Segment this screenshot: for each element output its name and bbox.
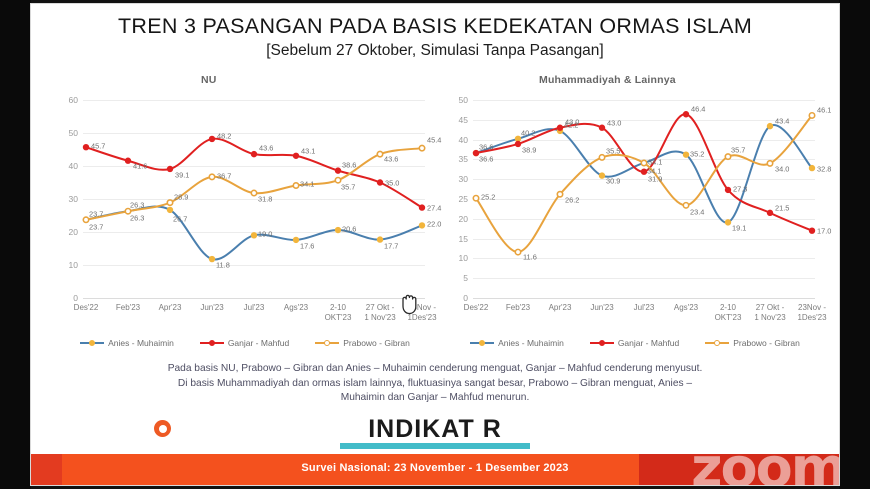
data-label: 19.1 [732, 224, 746, 233]
legend-swatch-icon [470, 339, 494, 347]
data-point [767, 123, 772, 128]
series-line-1 [86, 139, 422, 208]
data-label: 43.6 [259, 144, 273, 153]
y-axis-tick: 30 [69, 194, 78, 204]
legend-swatch-icon [200, 339, 224, 347]
banner-left-accent [31, 454, 62, 485]
y-axis-tick: 50 [459, 95, 468, 105]
presentation-slide: TREN 3 PASANGAN PADA BASIS KEDEKATAN ORM… [31, 4, 839, 485]
x-axis-tick: 27 Okt -1 Nov'23 [364, 303, 395, 322]
footnote-line: Muhaimin dan Ganjar – Mahfud menurun. [91, 391, 779, 406]
data-label: 46.4 [691, 105, 705, 114]
y-axis-tick: 20 [69, 227, 78, 237]
data-point [725, 154, 730, 159]
y-axis-tick: 15 [459, 234, 468, 244]
data-label: 17.6 [300, 241, 314, 250]
data-label: 17.7 [384, 241, 398, 250]
logo-dot-icon [154, 420, 171, 437]
legend-item-nu-0[interactable]: Anies - Muhaimin [80, 338, 174, 348]
chart-muhammadiyah-plot: 05101520253035404550Des'22Feb'23Apr'23Ju… [473, 100, 815, 298]
x-axis-tick: Ags'23 [674, 303, 698, 313]
data-label: 48.2 [217, 131, 231, 140]
data-label: 26.3 [130, 214, 144, 223]
data-label: 35.0 [385, 178, 399, 187]
data-point [419, 145, 424, 150]
x-axis-tick: Des'22 [464, 303, 489, 313]
data-label: 38.6 [342, 160, 356, 169]
data-point [809, 228, 814, 233]
chart-nu-legend: Anies - MuhaiminGanjar - MahfudPrabowo -… [49, 334, 441, 352]
data-point [599, 125, 604, 130]
data-label: 41.6 [133, 161, 147, 170]
x-axis-tick: Apr'23 [159, 303, 182, 313]
legend-swatch-icon [705, 339, 729, 347]
data-label: 35.7 [731, 145, 745, 154]
data-point [641, 160, 646, 165]
chart-nu: 0102030405060Des'22Feb'23Apr'23Jun'23Jul… [49, 96, 441, 324]
legend-swatch-icon [315, 339, 339, 347]
legend-item-muh-2[interactable]: Prabowo - Gibran [705, 338, 800, 348]
data-label: 32.8 [817, 165, 831, 174]
data-point [599, 173, 604, 178]
data-point [419, 223, 424, 228]
data-label: 46.1 [817, 106, 831, 115]
data-label: 26.7 [173, 214, 187, 223]
y-axis-tick: 0 [73, 293, 78, 303]
data-point [683, 203, 688, 208]
legend-item-nu-2[interactable]: Prabowo - Gibran [315, 338, 410, 348]
data-point [809, 113, 814, 118]
data-label: 36.7 [217, 171, 231, 180]
data-point [209, 136, 214, 141]
data-label: 11.8 [216, 261, 230, 270]
y-axis-tick: 35 [459, 154, 468, 164]
x-axis [83, 298, 425, 299]
data-label: 23.7 [89, 209, 103, 218]
x-axis-tick: Feb'23 [506, 303, 530, 313]
data-label: 30.9 [606, 176, 620, 185]
data-label: 45.7 [91, 142, 105, 151]
data-label: 23.7 [89, 222, 103, 231]
chart-series-layer [83, 100, 425, 298]
indikator-logo: INDIKAT R [31, 416, 839, 449]
data-point [335, 177, 340, 182]
legend-label: Anies - Muhaimin [108, 338, 174, 348]
left-letterbox [0, 0, 31, 489]
y-axis-tick: 5 [463, 273, 468, 283]
x-axis-tick: 27 Okt -1 Nov'23 [754, 303, 785, 322]
data-label: 34.1 [300, 180, 314, 189]
y-axis-tick: 30 [459, 174, 468, 184]
data-label: 43.1 [301, 146, 315, 155]
screenshot-stage: TREN 3 PASANGAN PADA BASIS KEDEKATAN ORM… [0, 0, 870, 489]
data-label: 25.2 [481, 193, 495, 202]
x-axis-tick: Jun'23 [200, 303, 223, 313]
y-axis-tick: 10 [69, 260, 78, 270]
y-axis-tick: 60 [69, 95, 78, 105]
data-point [515, 249, 520, 254]
data-point [335, 227, 340, 232]
data-point [557, 125, 562, 130]
data-point [377, 151, 382, 156]
legend-item-muh-1[interactable]: Ganjar - Mahfud [590, 338, 679, 348]
data-point [125, 158, 130, 163]
x-axis-tick: Jun'23 [590, 303, 613, 313]
data-point [473, 196, 478, 201]
x-axis-tick: 2-10OKT'23 [715, 303, 742, 322]
footnote-line: Di basis Muhammadiyah dan ormas islam la… [91, 377, 779, 392]
data-label: 34.0 [775, 165, 789, 174]
slide-subtitle: [Sebelum 27 Oktober, Simulasi Tanpa Pasa… [31, 42, 839, 60]
data-point [557, 192, 562, 197]
data-point [809, 165, 814, 170]
data-point [683, 152, 688, 157]
legend-item-muh-0[interactable]: Anies - Muhaimin [470, 338, 564, 348]
data-point [251, 233, 256, 238]
x-axis [473, 298, 815, 299]
x-axis-tick: Jul'23 [244, 303, 265, 313]
data-label: 35.2 [690, 149, 704, 158]
data-label: 43.0 [607, 118, 621, 127]
legend-item-nu-1[interactable]: Ganjar - Mahfud [200, 338, 289, 348]
data-label: 36.6 [479, 155, 493, 164]
data-label: 35.7 [341, 183, 355, 192]
legend-label: Prabowo - Gibran [343, 338, 410, 348]
data-label: 28.9 [174, 192, 188, 201]
data-point [377, 180, 382, 185]
data-point [209, 256, 214, 261]
legend-swatch-icon [590, 339, 614, 347]
data-label: 21.5 [775, 203, 789, 212]
data-point [419, 205, 424, 210]
data-point [725, 187, 730, 192]
data-label: 39.1 [175, 170, 189, 179]
data-point [473, 150, 478, 155]
data-point [767, 210, 772, 215]
data-point [251, 151, 256, 156]
data-label: 43.4 [775, 117, 789, 126]
x-axis-tick: Jul'23 [634, 303, 655, 313]
data-point [641, 169, 646, 174]
data-label: 31.8 [258, 195, 272, 204]
x-axis-tick: 2-10OKT'23 [325, 303, 352, 322]
data-label: 19.0 [258, 230, 272, 239]
legend-label: Prabowo - Gibran [733, 338, 800, 348]
data-point [293, 153, 298, 158]
y-axis-tick: 0 [463, 293, 468, 303]
data-label: 23.4 [690, 208, 704, 217]
data-label: 38.9 [522, 145, 536, 154]
data-point [293, 183, 298, 188]
data-point [83, 144, 88, 149]
legend-label: Ganjar - Mahfud [618, 338, 679, 348]
chart-muhammadiyah: 05101520253035404550Des'22Feb'23Apr'23Ju… [439, 96, 831, 324]
footnote-line: Pada basis NU, Prabowo – Gibran dan Anie… [91, 362, 779, 377]
data-label: 34.1 [647, 166, 661, 175]
data-label: 27.3 [733, 184, 747, 193]
data-label: 17.0 [817, 226, 831, 235]
legend-label: Anies - Muhaimin [498, 338, 564, 348]
data-label: 43.0 [565, 117, 579, 126]
x-axis-tick: Apr'23 [549, 303, 572, 313]
data-point [251, 190, 256, 195]
data-label: 43.6 [384, 155, 398, 164]
chart-muhammadiyah-legend: Anies - MuhaiminGanjar - MahfudPrabowo -… [439, 334, 831, 352]
y-axis-tick: 40 [459, 135, 468, 145]
data-point [767, 161, 772, 166]
data-point [377, 237, 382, 242]
y-axis-tick: 50 [69, 128, 78, 138]
legend-swatch-icon [80, 339, 104, 347]
slide-title: TREN 3 PASANGAN PADA BASIS KEDEKATAN ORM… [31, 14, 839, 39]
data-point [167, 207, 172, 212]
data-point [293, 237, 298, 242]
mouse-cursor-icon [399, 292, 421, 316]
data-point [335, 168, 340, 173]
data-label: 40.2 [521, 128, 535, 137]
data-point [167, 166, 172, 171]
chart-left-title: NU [201, 74, 217, 86]
slide-footnote: Pada basis NU, Prabowo – Gibran dan Anie… [91, 362, 779, 406]
y-axis-tick: 20 [459, 214, 468, 224]
data-label: 35.5 [606, 147, 620, 156]
x-axis-tick: 23Nov -1Des'23 [797, 303, 826, 322]
data-label: 20.6 [342, 225, 356, 234]
legend-label: Ganjar - Mahfud [228, 338, 289, 348]
x-axis-tick: Ags'23 [284, 303, 308, 313]
survey-banner-text: Survei Nasional: 23 November - 1 Desembe… [31, 462, 839, 474]
y-axis-tick: 40 [69, 161, 78, 171]
x-axis-tick: Des'22 [74, 303, 99, 313]
logo-bar [340, 443, 530, 449]
data-point [725, 220, 730, 225]
data-label: 26.2 [565, 196, 579, 205]
data-point [515, 141, 520, 146]
data-label: 36.6 [479, 143, 493, 152]
data-point [515, 136, 520, 141]
y-axis-tick: 45 [459, 115, 468, 125]
y-axis-tick: 10 [459, 253, 468, 263]
survey-banner: Survei Nasional: 23 November - 1 Desembe… [31, 454, 839, 485]
data-point [683, 112, 688, 117]
logo-wordmark: INDIKAT R [368, 416, 502, 442]
y-axis-tick: 25 [459, 194, 468, 204]
x-axis-tick: Feb'23 [116, 303, 140, 313]
data-point [209, 174, 214, 179]
data-point [83, 217, 88, 222]
chart-right-title: Muhammadiyah & Lainnya [539, 74, 676, 86]
data-label: 11.6 [523, 253, 537, 262]
data-label: 31.9 [648, 174, 662, 183]
data-label: 26.3 [130, 201, 144, 210]
chart-nu-plot: 0102030405060Des'22Feb'23Apr'23Jun'23Jul… [83, 100, 425, 298]
right-letterbox [839, 0, 870, 489]
data-label: 34.1 [648, 157, 662, 166]
data-point [599, 155, 604, 160]
data-point [167, 200, 172, 205]
